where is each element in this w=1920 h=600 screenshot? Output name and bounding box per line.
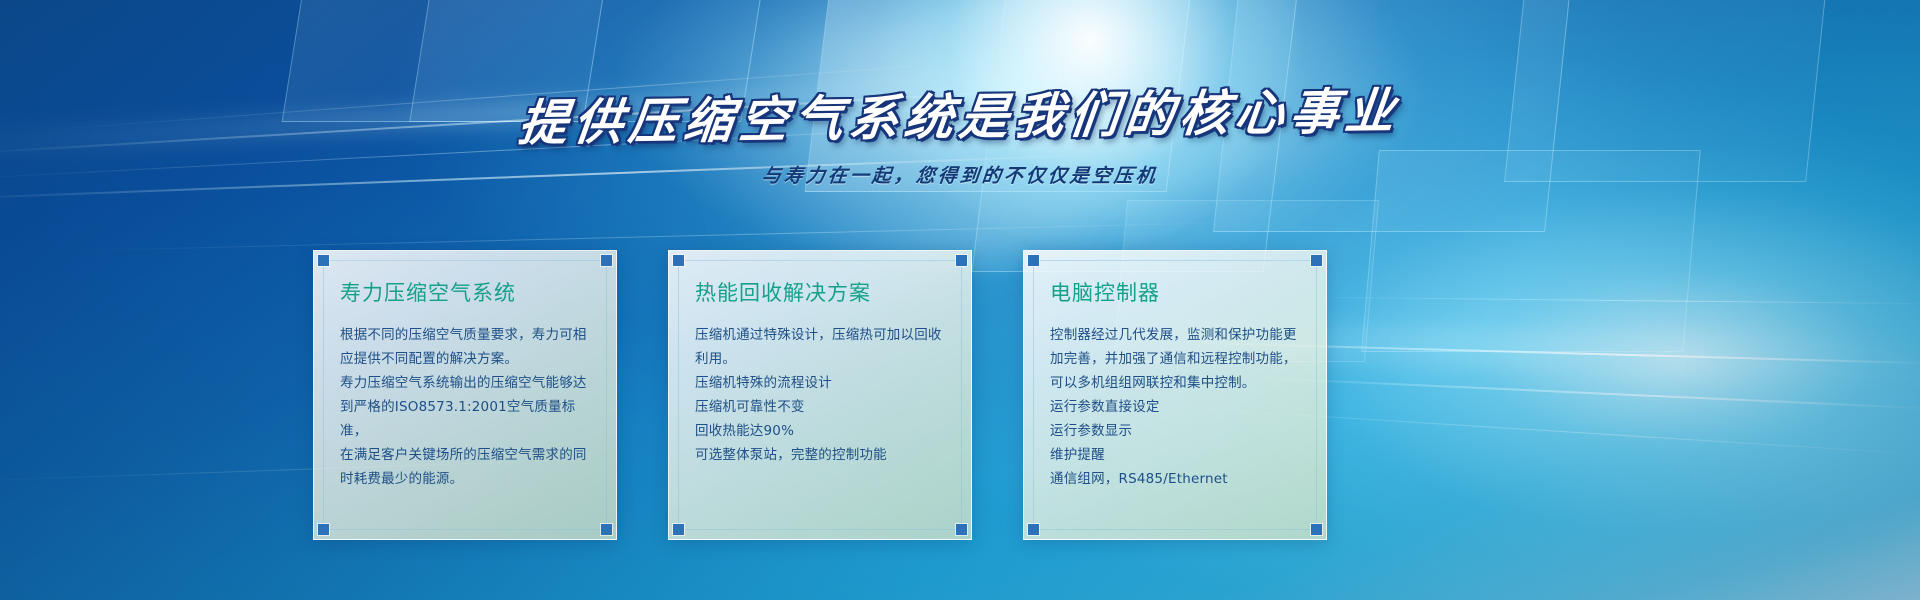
corner-marker-icon (1028, 255, 1039, 266)
card-line: 可选整体泵站，完整的控制功能 (695, 443, 951, 467)
corner-marker-icon (673, 524, 684, 535)
feature-card[interactable]: 寿力压缩空气系统 根据不同的压缩空气质量要求，寿力可相 应提供不同配置的解决方案… (313, 250, 617, 540)
card-line: 控制器经过几代发展，监测和保护功能更 (1050, 323, 1306, 347)
card-line: 通信组网，RS485/Ethernet (1050, 467, 1306, 491)
card-body: 电脑控制器 控制器经过几代发展，监测和保护功能更 加完善，并加强了通信和远程控制… (1050, 277, 1306, 491)
card-line: 压缩机特殊的流程设计 (695, 371, 951, 395)
card-line: 维护提醒 (1050, 443, 1306, 467)
banner-headline-block: 提供压缩空气系统是我们的核心事业 与寿力在一起，您得到的不仅仅是空压机 (0, 78, 1920, 188)
card-line: 加完善，并加强了通信和远程控制功能， (1050, 347, 1306, 371)
card-line: 压缩机可靠性不变 (695, 395, 951, 419)
card-title: 电脑控制器 (1050, 277, 1306, 307)
feature-card-row: 寿力压缩空气系统 根据不同的压缩空气质量要求，寿力可相 应提供不同配置的解决方案… (0, 250, 1920, 545)
corner-marker-icon (1311, 255, 1322, 266)
corner-marker-icon (318, 255, 329, 266)
card-body: 热能回收解决方案 压缩机通过特殊设计，压缩热可加以回收 利用。 压缩机特殊的流程… (695, 277, 951, 467)
card-line: 应提供不同配置的解决方案。 (340, 347, 596, 371)
card-line: 时耗费最少的能源。 (340, 467, 596, 491)
card-line: 到严格的ISO8573.1:2001空气质量标准， (340, 395, 596, 443)
corner-marker-icon (1028, 524, 1039, 535)
corner-marker-icon (673, 255, 684, 266)
banner-stage: 提供压缩空气系统是我们的核心事业 与寿力在一起，您得到的不仅仅是空压机 寿力压缩… (0, 0, 1920, 600)
card-line: 根据不同的压缩空气质量要求，寿力可相 (340, 323, 596, 347)
corner-marker-icon (601, 524, 612, 535)
card-title: 热能回收解决方案 (695, 277, 951, 307)
corner-marker-icon (956, 255, 967, 266)
corner-marker-icon (1311, 524, 1322, 535)
card-line: 压缩机通过特殊设计，压缩热可加以回收 (695, 323, 951, 347)
card-title: 寿力压缩空气系统 (340, 277, 596, 307)
corner-marker-icon (318, 524, 329, 535)
card-line: 运行参数显示 (1050, 419, 1306, 443)
card-body: 寿力压缩空气系统 根据不同的压缩空气质量要求，寿力可相 应提供不同配置的解决方案… (340, 277, 596, 491)
card-line: 在满足客户关键场所的压缩空气需求的同 (340, 443, 596, 467)
subhead-text: 与寿力在一起，您得到的不仅仅是空压机 (761, 161, 1160, 188)
feature-card[interactable]: 电脑控制器 控制器经过几代发展，监测和保护功能更 加完善，并加强了通信和远程控制… (1023, 250, 1327, 540)
feature-card[interactable]: 热能回收解决方案 压缩机通过特殊设计，压缩热可加以回收 利用。 压缩机特殊的流程… (668, 250, 972, 540)
card-line: 寿力压缩空气系统输出的压缩空气能够达 (340, 371, 596, 395)
corner-marker-icon (956, 524, 967, 535)
headline-text: 提供压缩空气系统是我们的核心事业 (515, 72, 1404, 155)
corner-marker-icon (601, 255, 612, 266)
subhead-row: 与寿力在一起，您得到的不仅仅是空压机 (0, 149, 1920, 188)
card-line: 运行参数直接设定 (1050, 395, 1306, 419)
card-line: 可以多机组组网联控和集中控制。 (1050, 371, 1306, 395)
card-line: 回收热能达90% (695, 419, 951, 443)
card-line: 利用。 (695, 347, 951, 371)
